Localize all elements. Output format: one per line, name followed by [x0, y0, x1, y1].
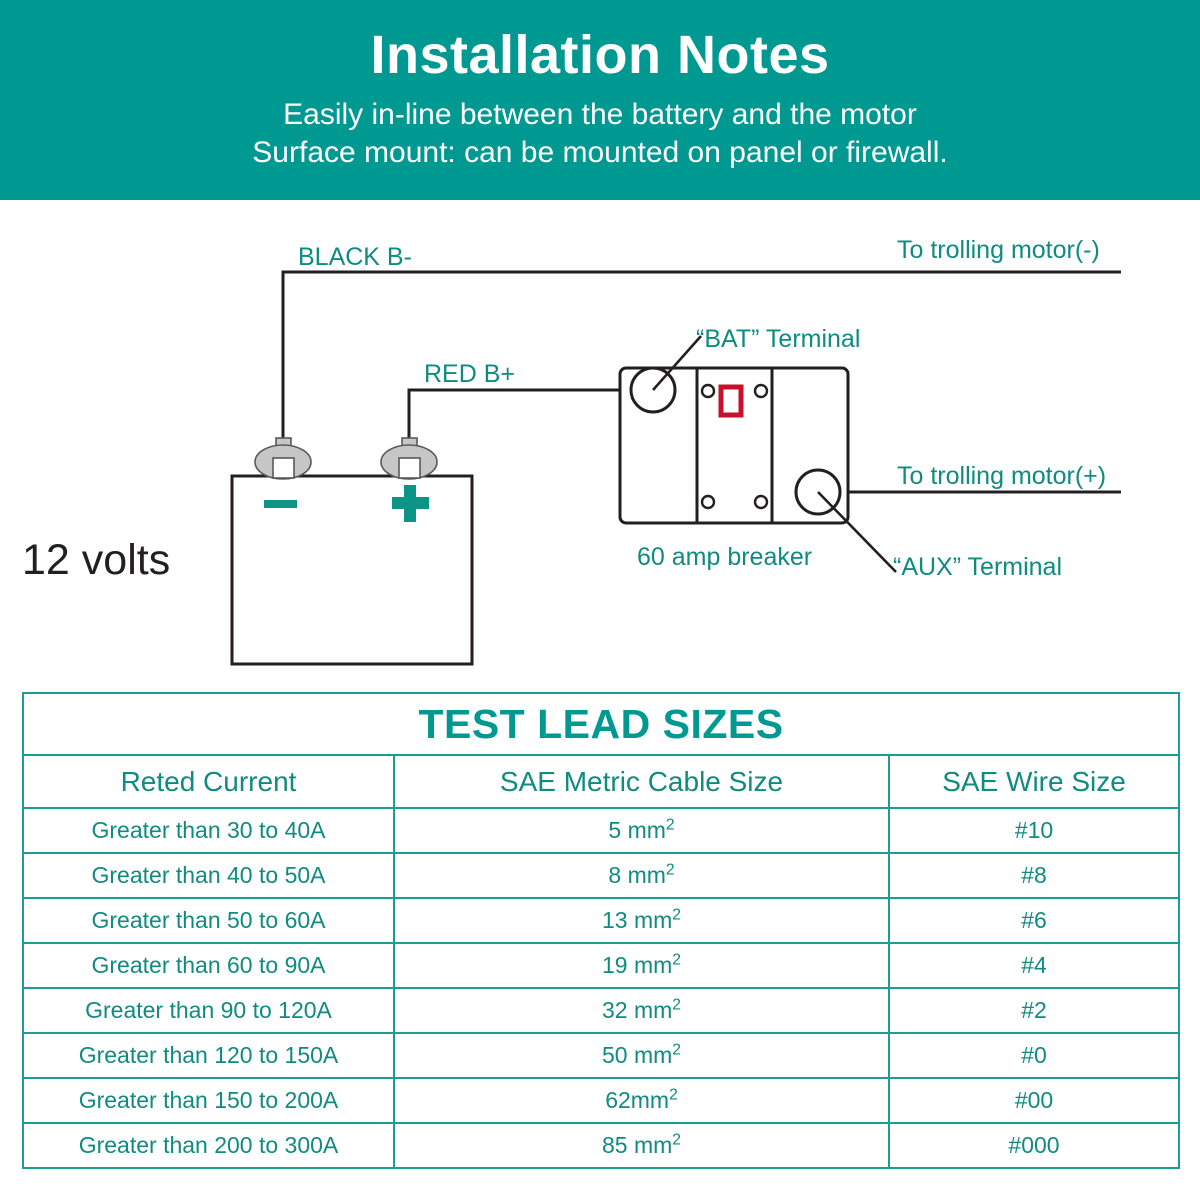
table-data-rows: Greater than 30 to 40A5 mm2#10Greater th… [23, 808, 1179, 1168]
cell-wire-size: #0 [889, 1033, 1179, 1078]
cell-wire-size: #4 [889, 943, 1179, 988]
test-lead-sizes-table-wrapper: TEST LEAD SIZES Reted Current SAE Metric… [22, 692, 1178, 1169]
column-header-sae-wire-size: SAE Wire Size [889, 755, 1179, 808]
table-row: Greater than 120 to 150A50 mm2#0 [23, 1033, 1179, 1078]
label-red-positive: RED B+ [424, 360, 515, 389]
header-subtitle: Easily in-line between the battery and t… [0, 82, 1200, 173]
cable-size-value: 8 mm [608, 862, 666, 888]
cell-cable-size: 8 mm2 [394, 853, 889, 898]
cell-cable-size: 50 mm2 [394, 1033, 889, 1078]
cell-wire-size: #2 [889, 988, 1179, 1033]
table-row: Greater than 60 to 90A19 mm2#4 [23, 943, 1179, 988]
cell-wire-size: #00 [889, 1078, 1179, 1123]
table-row: Greater than 200 to 300A85 mm2#000 [23, 1123, 1179, 1168]
battery-positive-terminal [381, 438, 437, 479]
table-title-cell: TEST LEAD SIZES [23, 693, 1179, 755]
aux-terminal-leader-line [818, 492, 896, 572]
label-bat-terminal: “BAT” Terminal [696, 325, 860, 354]
cable-size-exponent: 2 [672, 1131, 681, 1148]
cable-size-value: 13 mm [602, 907, 672, 933]
subtitle-line-2: Surface mount: can be mounted on panel o… [0, 134, 1200, 172]
table-row: Greater than 90 to 120A32 mm2#2 [23, 988, 1179, 1033]
breaker-mount-hole-bottom-left [702, 496, 714, 508]
table-body: TEST LEAD SIZES Reted Current SAE Metric… [23, 693, 1179, 808]
cable-size-value: 5 mm [608, 817, 666, 843]
label-battery-voltage: 12 volts [22, 536, 170, 585]
installation-notes-page: Installation Notes Easily in-line betwee… [0, 0, 1200, 1200]
breaker-reset-button[interactable] [721, 387, 741, 415]
cable-size-exponent: 2 [666, 861, 675, 878]
column-header-rated-current: Reted Current [23, 755, 394, 808]
cell-rated-current: Greater than 150 to 200A [23, 1078, 394, 1123]
cell-rated-current: Greater than 30 to 40A [23, 808, 394, 853]
cell-wire-size: #10 [889, 808, 1179, 853]
wire-red-positive [409, 390, 653, 445]
cell-wire-size: #000 [889, 1123, 1179, 1168]
label-breaker-caption: 60 amp breaker [637, 543, 812, 572]
table-header-row: Reted Current SAE Metric Cable Size SAE … [23, 755, 1179, 808]
cable-size-value: 32 mm [602, 997, 672, 1023]
page-title: Installation Notes [0, 0, 1200, 82]
wiring-diagram-svg [0, 200, 1200, 690]
table-row: Greater than 150 to 200A62mm2#00 [23, 1078, 1179, 1123]
cable-size-value: 50 mm [602, 1042, 672, 1068]
column-header-sae-metric-cable-size: SAE Metric Cable Size [394, 755, 889, 808]
test-lead-sizes-table: TEST LEAD SIZES Reted Current SAE Metric… [22, 692, 1180, 1169]
cable-size-exponent: 2 [672, 951, 681, 968]
breaker-mount-hole-top-right [755, 385, 767, 397]
cell-rated-current: Greater than 90 to 120A [23, 988, 394, 1033]
cable-size-exponent: 2 [672, 1041, 681, 1058]
table-row: Greater than 50 to 60A13 mm2#6 [23, 898, 1179, 943]
label-aux-terminal: “AUX” Terminal [893, 553, 1062, 582]
cell-wire-size: #8 [889, 853, 1179, 898]
label-black-negative: BLACK B- [298, 243, 412, 272]
cable-size-exponent: 2 [669, 1086, 678, 1103]
cell-rated-current: Greater than 60 to 90A [23, 943, 394, 988]
wiring-diagram: BLACK B- RED B+ To trolling motor(-) To … [0, 200, 1200, 690]
label-to-trolling-motor-positive: To trolling motor(+) [897, 462, 1106, 491]
breaker-mount-hole-top-left [702, 385, 714, 397]
cell-cable-size: 5 mm2 [394, 808, 889, 853]
cable-size-exponent: 2 [672, 996, 681, 1013]
cable-size-value: 62mm [605, 1087, 669, 1113]
cell-cable-size: 62mm2 [394, 1078, 889, 1123]
header-banner: Installation Notes Easily in-line betwee… [0, 0, 1200, 200]
table-row: Greater than 40 to 50A8 mm2#8 [23, 853, 1179, 898]
table-row: Greater than 30 to 40A5 mm2#10 [23, 808, 1179, 853]
cell-cable-size: 32 mm2 [394, 988, 889, 1033]
cell-cable-size: 85 mm2 [394, 1123, 889, 1168]
cell-cable-size: 13 mm2 [394, 898, 889, 943]
cable-size-value: 85 mm [602, 1132, 672, 1158]
cell-wire-size: #6 [889, 898, 1179, 943]
battery-minus-symbol [264, 500, 297, 508]
cell-rated-current: Greater than 200 to 300A [23, 1123, 394, 1168]
cable-size-exponent: 2 [672, 906, 681, 923]
cell-cable-size: 19 mm2 [394, 943, 889, 988]
cable-size-exponent: 2 [666, 816, 675, 833]
table-title: TEST LEAD SIZES [418, 701, 783, 747]
breaker-mount-hole-bottom-right [755, 496, 767, 508]
cell-rated-current: Greater than 50 to 60A [23, 898, 394, 943]
cable-size-value: 19 mm [602, 952, 672, 978]
label-to-trolling-motor-negative: To trolling motor(-) [897, 236, 1100, 265]
battery-negative-terminal [255, 438, 311, 479]
cell-rated-current: Greater than 120 to 150A [23, 1033, 394, 1078]
cell-rated-current: Greater than 40 to 50A [23, 853, 394, 898]
subtitle-line-1: Easily in-line between the battery and t… [0, 96, 1200, 134]
table-title-row: TEST LEAD SIZES [23, 693, 1179, 755]
breaker-unit [620, 368, 848, 523]
